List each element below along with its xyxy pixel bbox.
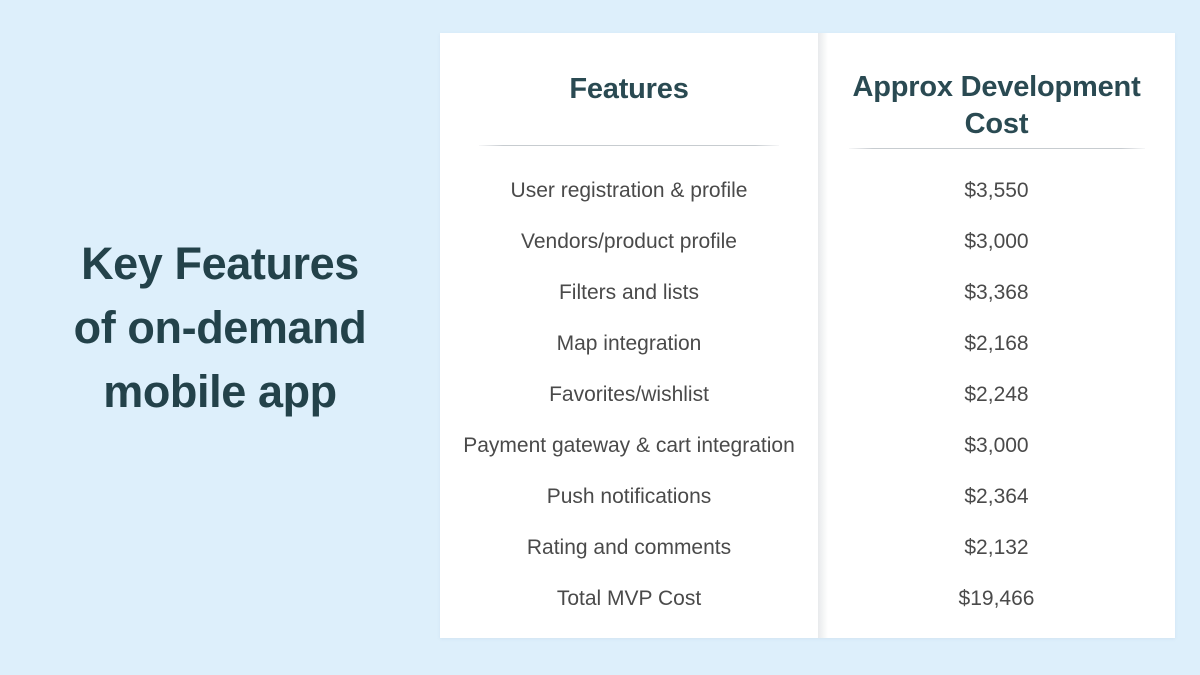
table-row: $3,000 — [830, 216, 1163, 267]
table-row: Vendors/product profile — [450, 216, 808, 267]
page-title-line-2: of on-demand — [0, 296, 440, 360]
table-row: Map integration — [450, 318, 808, 369]
table-row: Filters and lists — [450, 267, 808, 318]
features-column-header: Features — [450, 33, 808, 112]
page-title-line-1: Key Features — [0, 232, 440, 296]
cost-column-header: Approx Development Cost — [830, 33, 1163, 114]
table-row: $2,364 — [830, 471, 1163, 522]
features-cell-list: User registration & profile Vendors/prod… — [450, 165, 808, 624]
cost-cell-list: $3,550 $3,000 $3,368 $2,168 $2,248 $3,00… — [830, 165, 1163, 624]
cost-column: Approx Development Cost $3,550 $3,000 $3… — [818, 33, 1175, 638]
table-row: User registration & profile — [450, 165, 808, 216]
table-row: $3,550 — [830, 165, 1163, 216]
page-title-line-3: mobile app — [0, 360, 440, 424]
column-divider — [818, 33, 828, 638]
infographic-canvas: Key Features of on-demand mobile app Fea… — [0, 0, 1200, 675]
table-row: $3,368 — [830, 267, 1163, 318]
cost-header-divider — [849, 148, 1145, 149]
table-row: $2,248 — [830, 369, 1163, 420]
table-row: Push notifications — [450, 471, 808, 522]
table-row: $2,132 — [830, 522, 1163, 573]
table-row: $3,000 — [830, 420, 1163, 471]
features-cost-table-card: Features User registration & profile Ven… — [440, 33, 1175, 638]
features-header-divider — [479, 145, 779, 146]
table-row: Favorites/wishlist — [450, 369, 808, 420]
page-title: Key Features of on-demand mobile app — [0, 232, 440, 424]
table-row: $19,466 — [830, 573, 1163, 624]
table-row: Total MVP Cost — [450, 573, 808, 624]
features-column: Features User registration & profile Ven… — [440, 33, 818, 638]
table-row: $2,168 — [830, 318, 1163, 369]
table-row: Rating and comments — [450, 522, 808, 573]
table-row: Payment gateway & cart integration — [450, 420, 808, 471]
